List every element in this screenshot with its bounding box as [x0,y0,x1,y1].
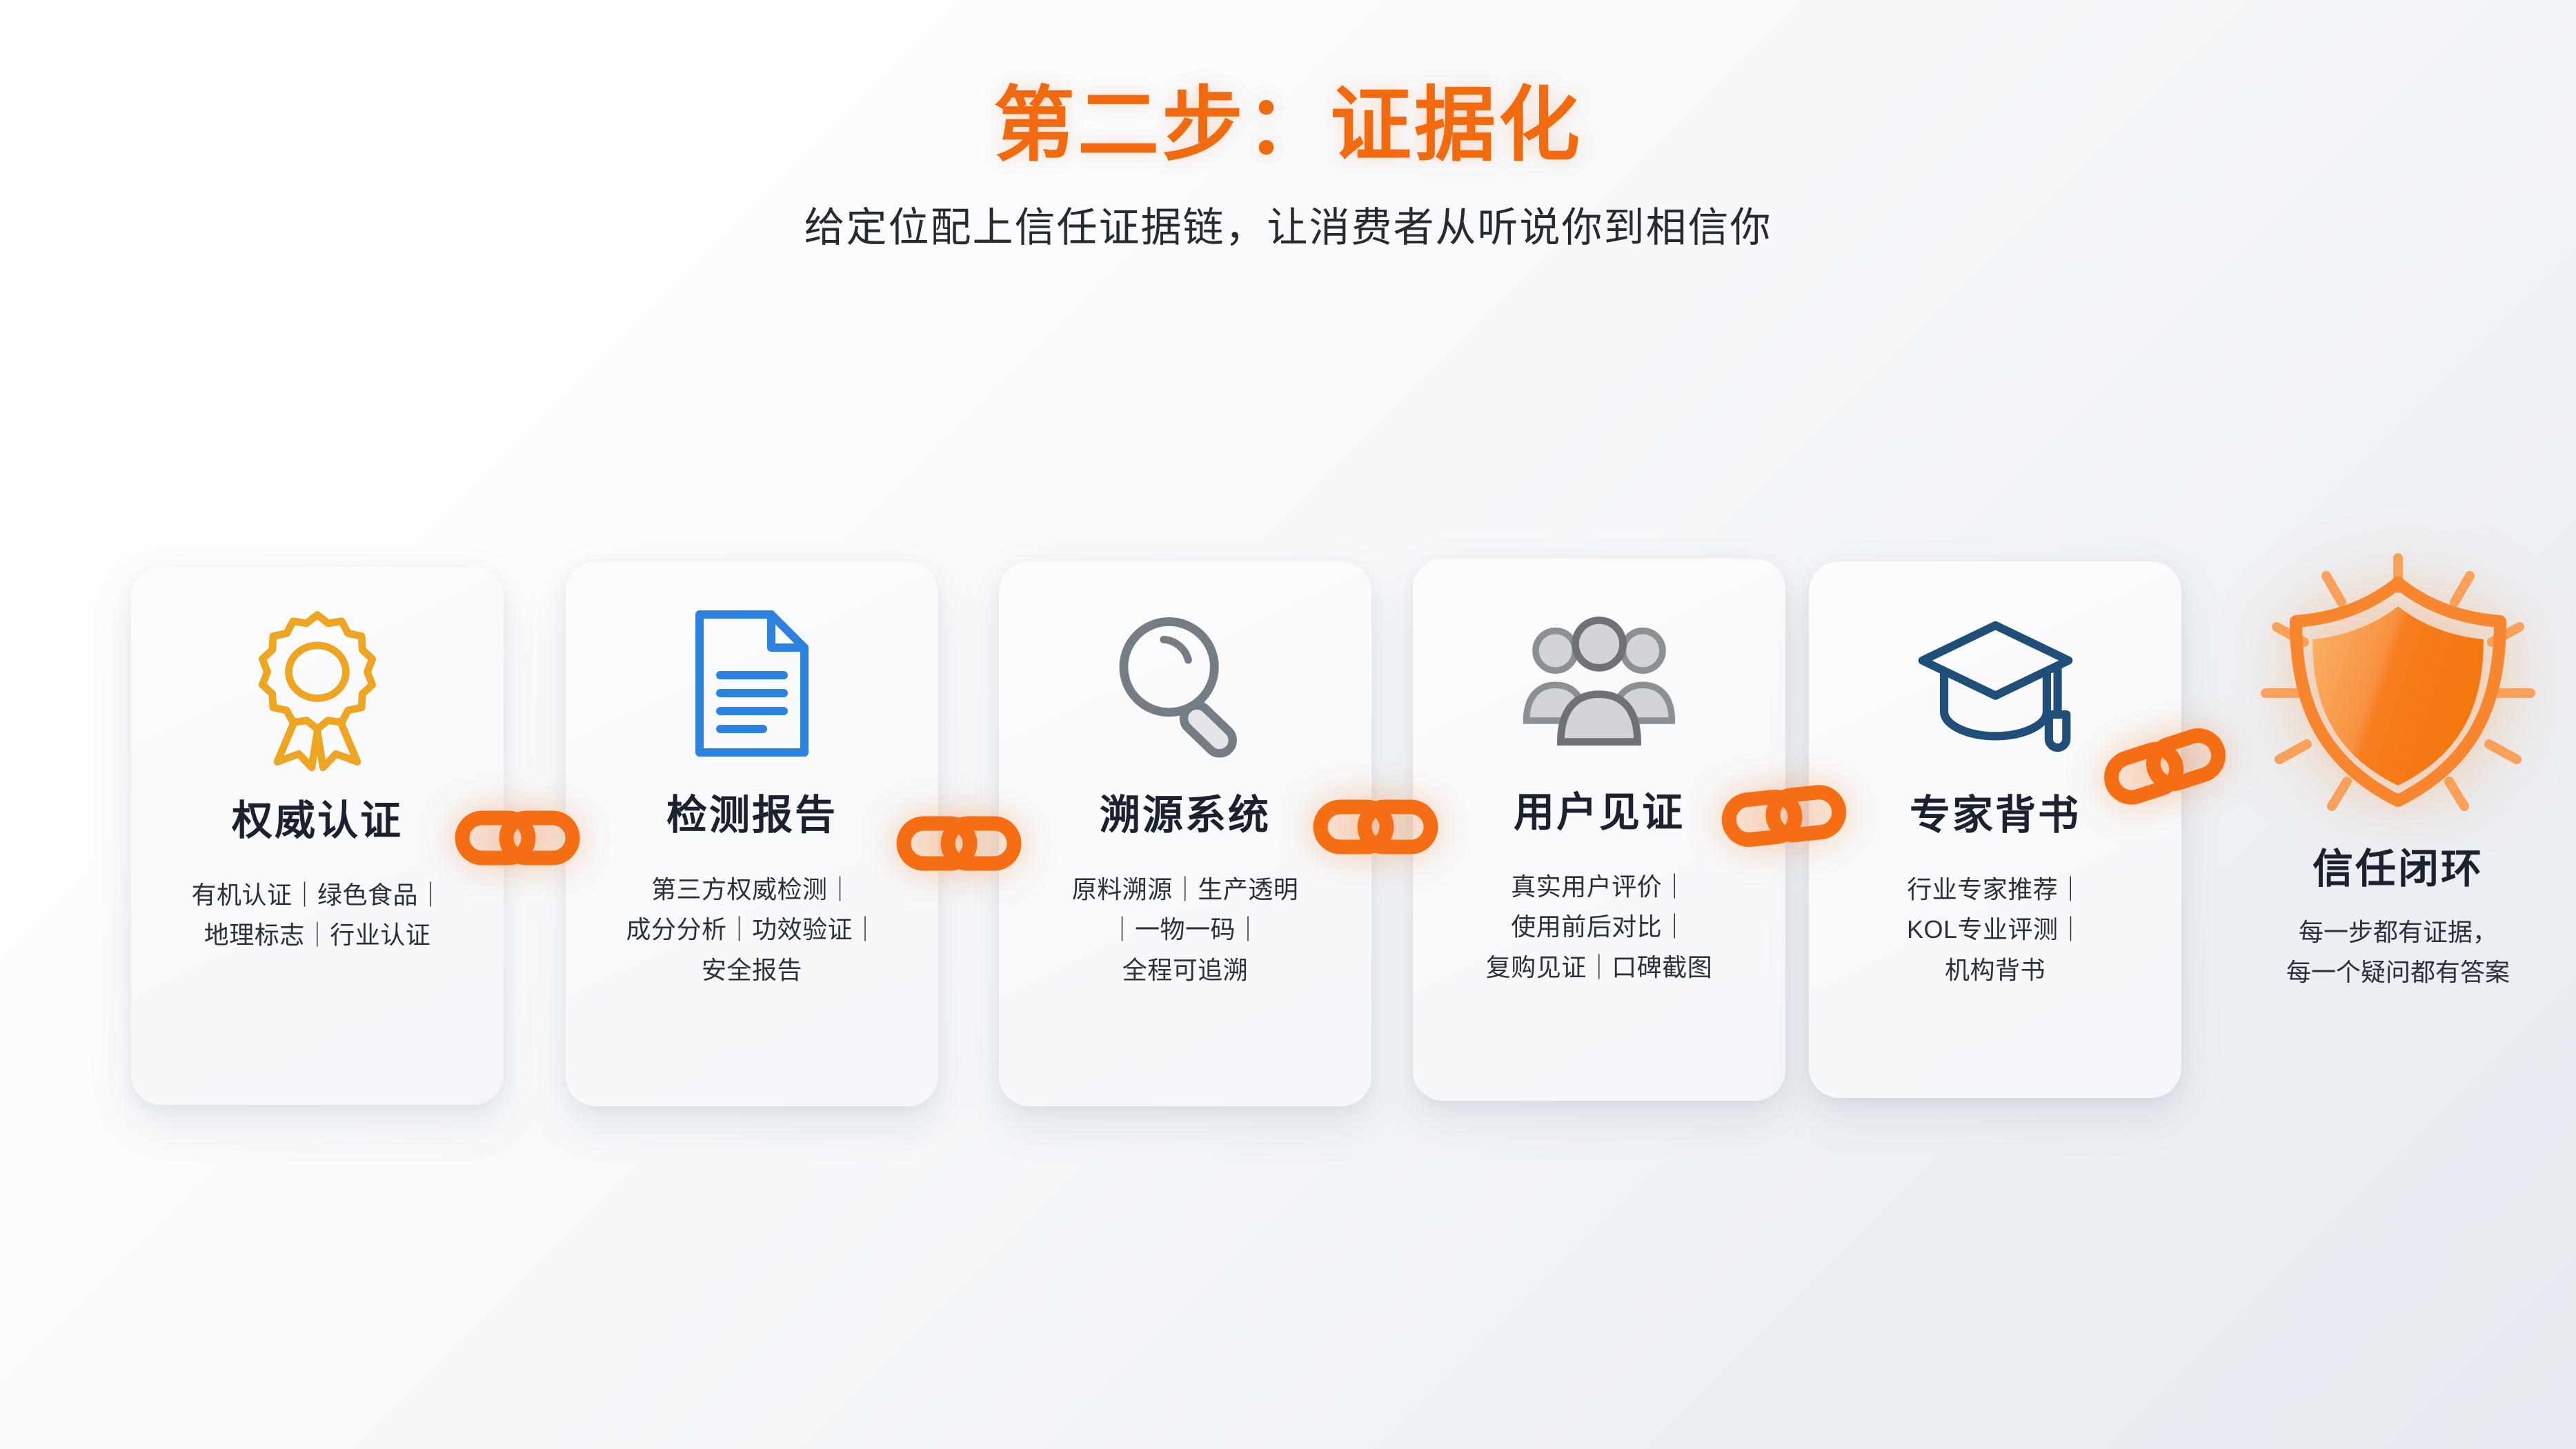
graduation-cap-icon [1914,597,2077,770]
chain-link-icon-2 [894,806,1025,881]
evidence-card-authority-certification[interactable]: 权威认证 有机认证｜绿色食品｜地理标志｜行业认证 [131,567,504,1105]
chain-link-icon-4 [1716,771,1854,860]
card-title: 用户见证 [1514,779,1685,838]
page-header: 第二步：证据化 给定位配上信任证据链，让消费者从听说你到相信你 [0,0,2576,253]
trust-loop-title: 信任闭环 [2232,836,2564,895]
magnifier-icon [1111,597,1260,770]
page-subtitle: 给定位配上信任证据链，让消费者从听说你到相信你 [0,194,2576,253]
card-description: 原料溯源｜生产透明｜一物一码｜全程可追溯 [1054,870,1317,990]
card-title: 检测报告 [666,782,838,841]
evidence-card-expert-endorsement[interactable]: 专家背书 行业专家推荐｜KOL专业评测｜机构背书 [1809,561,2181,1098]
chain-link-icon-1 [453,800,584,876]
card-title: 专家背书 [1910,782,2081,841]
award-ribbon-icon [245,603,390,775]
trust-closed-loop[interactable]: 信任闭环 每一步都有证据，每一个疑问都有答案 [2232,546,2564,992]
card-description: 真实用户评价｜使用前后对比｜复购见证｜口碑截图 [1468,867,1731,988]
user-group-icon [1520,594,1678,767]
evidence-card-test-report[interactable]: 检测报告 第三方权威检测｜成分分析｜功效验证｜安全报告 [566,561,938,1106]
document-report-icon [683,597,821,770]
card-description: 有机认证｜绿色食品｜地理标志｜行业认证 [173,875,461,956]
card-description: 第三方权威检测｜成分分析｜功效验证｜安全报告 [608,870,895,990]
evidence-chain-flow: 权威认证 有机认证｜绿色食品｜地理标志｜行业认证 检测报告 第三方权威检测｜成分… [0,552,2576,1159]
card-title: 溯源系统 [1100,782,1271,841]
card-description: 行业专家推荐｜KOL专业评测｜机构背书 [1889,870,2101,990]
page-title: 第二步：证据化 [0,81,2576,171]
shield-icon [2232,546,2564,829]
trust-loop-description: 每一步都有证据，每一个疑问都有答案 [2232,912,2564,992]
card-title: 权威认证 [232,788,403,846]
chain-link-icon-3 [1311,789,1442,865]
